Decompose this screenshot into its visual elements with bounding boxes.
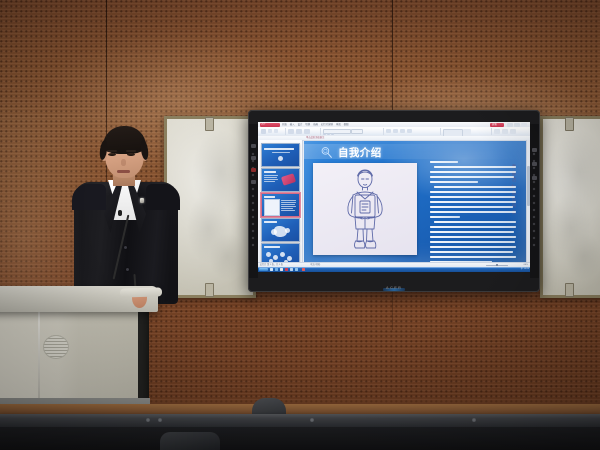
presenter-mouth — [117, 170, 130, 173]
slide-thumbnail-panel[interactable] — [258, 140, 303, 263]
whiteboard-clip — [205, 283, 214, 297]
scrollbar-thumb[interactable] — [527, 166, 529, 206]
taskbar-icon-explorer[interactable] — [270, 268, 273, 271]
board-brand-logo: ACER — [386, 285, 402, 290]
right-whiteboard-panel — [540, 116, 600, 298]
start-button[interactable] — [259, 268, 268, 272]
paste-icon[interactable] — [261, 129, 266, 134]
bezel-speaker-dots — [251, 152, 255, 251]
copy-icon[interactable] — [274, 129, 278, 133]
find-icon[interactable] — [494, 129, 500, 134]
rail-bolt — [146, 418, 150, 422]
taskbar-icon-app[interactable] — [290, 268, 293, 271]
presenter-nose — [121, 159, 126, 166]
presentation-room-photo: 文件 开始 插入 设计 切换 动画 幻灯片放映 审阅 视图 放映 — [0, 0, 600, 450]
arrange-icon[interactable] — [463, 129, 471, 135]
bezel-button[interactable] — [532, 176, 537, 180]
layout-icon[interactable] — [296, 129, 302, 134]
ribbon-tab[interactable]: 视图 — [344, 123, 349, 127]
microphone-head — [118, 210, 122, 216]
slide-thumbnail[interactable] — [261, 168, 300, 192]
slide-illustration-card — [313, 163, 417, 255]
ribbon-group-clipboard[interactable] — [259, 128, 286, 135]
ribbon-group-drawing[interactable] — [441, 128, 492, 135]
bezel-left-controls[interactable] — [249, 124, 258, 278]
slide-thumbnail-selected[interactable] — [261, 193, 300, 217]
rail-bolt — [158, 418, 162, 422]
bezel-button[interactable] — [532, 148, 537, 152]
cut-icon[interactable] — [268, 129, 272, 133]
student-line-drawing — [313, 163, 417, 255]
bezel-speaker-dots — [532, 152, 536, 251]
slide-canvas[interactable]: 自我介绍 — [304, 141, 526, 262]
align-left-icon[interactable] — [400, 129, 405, 133]
seat-lower-frame — [0, 427, 600, 450]
rail-bolt — [472, 418, 476, 422]
numbering-icon[interactable] — [393, 129, 398, 133]
lapel-pin — [140, 198, 144, 203]
italic-icon[interactable] — [327, 133, 330, 135]
bezel-button[interactable] — [251, 144, 256, 148]
slide-body-text — [428, 161, 520, 252]
rail-bolt — [310, 418, 314, 422]
slide-scrollbar[interactable] — [526, 140, 530, 263]
interactive-smartboard[interactable]: 文件 开始 插入 设计 切换 动画 幻灯片放映 审阅 视图 放映 — [248, 110, 540, 292]
presenter-eye-left — [108, 153, 116, 156]
presenter-shoulder-left — [72, 184, 106, 210]
ribbon-group-font[interactable] — [321, 128, 384, 135]
magnifier-icon — [320, 146, 333, 159]
bezel-button[interactable] — [251, 180, 256, 184]
ribbon-group-paragraph[interactable] — [384, 128, 441, 135]
slide-thumbnail[interactable] — [261, 218, 300, 242]
taskbar-icon-app[interactable] — [295, 268, 298, 271]
whiteboard-clip — [565, 283, 574, 297]
ribbon-tab[interactable]: 幻灯片放映 — [321, 123, 333, 127]
presenter-eyebrow-left — [107, 150, 117, 152]
taskbar-icon-media[interactable] — [302, 268, 305, 271]
file-menu-label: 文件 — [261, 122, 266, 126]
slide-title: 自我介绍 — [338, 145, 382, 160]
taskbar-icon-app[interactable] — [280, 268, 283, 271]
reset-icon[interactable] — [304, 129, 310, 134]
notes-hint-label: 单击此处添加备注 — [306, 136, 324, 140]
present-button[interactable]: 放映 — [490, 123, 504, 127]
ribbon-group-editing[interactable] — [492, 128, 528, 135]
podium-front-lip — [120, 287, 162, 297]
replace-icon[interactable] — [502, 129, 508, 134]
minimize-button[interactable] — [507, 123, 513, 127]
seat-metal-rail — [0, 414, 600, 427]
slide-thumbnail[interactable] — [261, 143, 300, 167]
bezel-right-controls[interactable] — [530, 124, 539, 278]
new-slide-icon[interactable] — [288, 129, 294, 134]
whiteboard-clip — [565, 117, 574, 131]
ribbon-group-slides[interactable] — [286, 128, 321, 135]
taskbar-icon-powerpoint[interactable] — [285, 268, 288, 271]
ribbon-tab[interactable]: 插入 — [290, 123, 295, 127]
bullets-icon[interactable] — [386, 129, 391, 133]
ribbon-tab[interactable]: 切换 — [305, 123, 310, 127]
ribbon-tab[interactable]: 动画 — [313, 123, 318, 127]
system-tray[interactable]: 中 14:26 — [521, 268, 529, 272]
underline-icon[interactable] — [331, 133, 334, 135]
ribbon-tab-list[interactable]: 开始 插入 设计 切换 动画 幻灯片放映 审阅 视图 — [282, 123, 348, 127]
font-size-select[interactable] — [351, 129, 363, 134]
ribbon-tab[interactable]: 审阅 — [336, 123, 341, 127]
windows-taskbar[interactable]: 中 14:26 — [258, 267, 530, 272]
bezel-button[interactable] — [532, 162, 537, 166]
align-center-icon[interactable] — [407, 129, 412, 133]
whiteboard-smudges — [543, 119, 600, 295]
close-button[interactable] — [521, 123, 527, 127]
presenter-shoulder-right — [146, 184, 180, 210]
foreground-seat-back — [160, 432, 220, 450]
taskbar-icon-browser[interactable] — [275, 268, 278, 271]
maximize-button[interactable] — [514, 123, 520, 127]
bold-icon[interactable] — [323, 133, 326, 135]
ribbon-tab[interactable]: 设计 — [298, 123, 303, 127]
presenter-eyebrow-right — [126, 150, 136, 152]
podium-speaker-grille — [43, 335, 69, 359]
bezel-power-button[interactable] — [251, 168, 256, 172]
whiteboard-clip — [205, 117, 214, 131]
ribbon-tab[interactable]: 开始 — [282, 123, 287, 127]
zoom-slider-handle[interactable] — [496, 264, 498, 267]
select-icon[interactable] — [510, 129, 516, 134]
presenter-eye-right — [127, 153, 135, 156]
smartboard-display[interactable]: 文件 开始 插入 设计 切换 动画 幻灯片放映 审阅 视图 放映 — [258, 122, 530, 272]
bezel-button[interactable] — [251, 156, 256, 160]
